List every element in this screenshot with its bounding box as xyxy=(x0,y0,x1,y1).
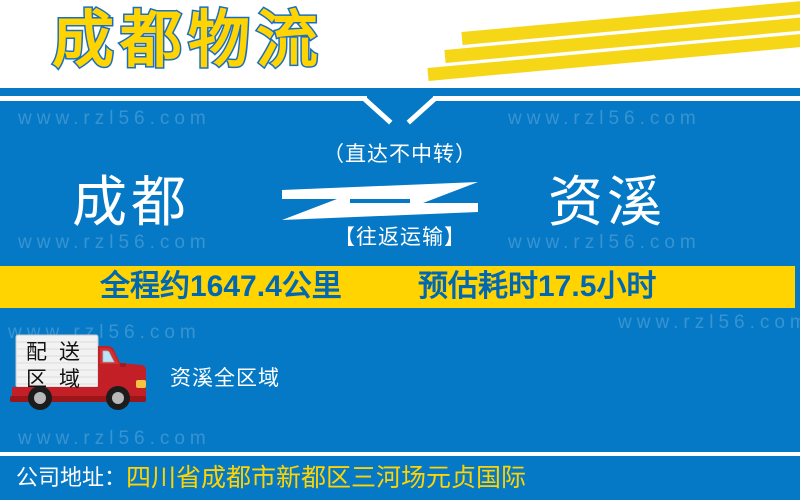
watermark: www.rzl56.com xyxy=(18,428,211,450)
chevron-divider xyxy=(0,88,800,128)
duration-text: 预估耗时17.5小时 xyxy=(418,270,656,304)
distance-text: 全程约1647.4公里 xyxy=(100,270,342,304)
chevron-down-icon xyxy=(362,97,392,125)
banner-header: 成都物流 xyxy=(0,0,800,88)
direct-shipping-note: （直达不中转） xyxy=(280,142,520,168)
chevron-line-left xyxy=(0,96,367,101)
watermark: www.rzl56.com xyxy=(618,312,800,334)
roundtrip-note: 【往返运输】 xyxy=(280,225,520,251)
page-title: 成都物流 xyxy=(52,5,324,77)
destination-city: 资溪 xyxy=(548,172,666,232)
delivery-truck-icon xyxy=(8,330,160,410)
origin-city: 成都 xyxy=(72,172,190,232)
coverage-area-text: 资溪全区域 xyxy=(170,366,280,392)
bidirectional-arrow-icon xyxy=(282,180,478,222)
address-value: 四川省成都市新都区三河场元贞国际 xyxy=(126,464,526,492)
footer-bar: 公司地址： 四川省成都市新都区三河场元贞国际 xyxy=(0,456,800,500)
logistics-banner: 成都物流 www.rzl56.com www.rzl56.com www.rzl… xyxy=(0,0,800,500)
watermark: www.rzl56.com xyxy=(508,232,701,254)
watermark: www.rzl56.com xyxy=(18,232,211,254)
chevron-line-right xyxy=(433,96,800,101)
decorative-stripes xyxy=(410,0,800,88)
trip-info-band: 全程约1647.4公里 预估耗时17.5小时 xyxy=(0,266,795,308)
address-label: 公司地址： xyxy=(16,465,126,491)
chevron-down-icon-right xyxy=(407,97,437,125)
